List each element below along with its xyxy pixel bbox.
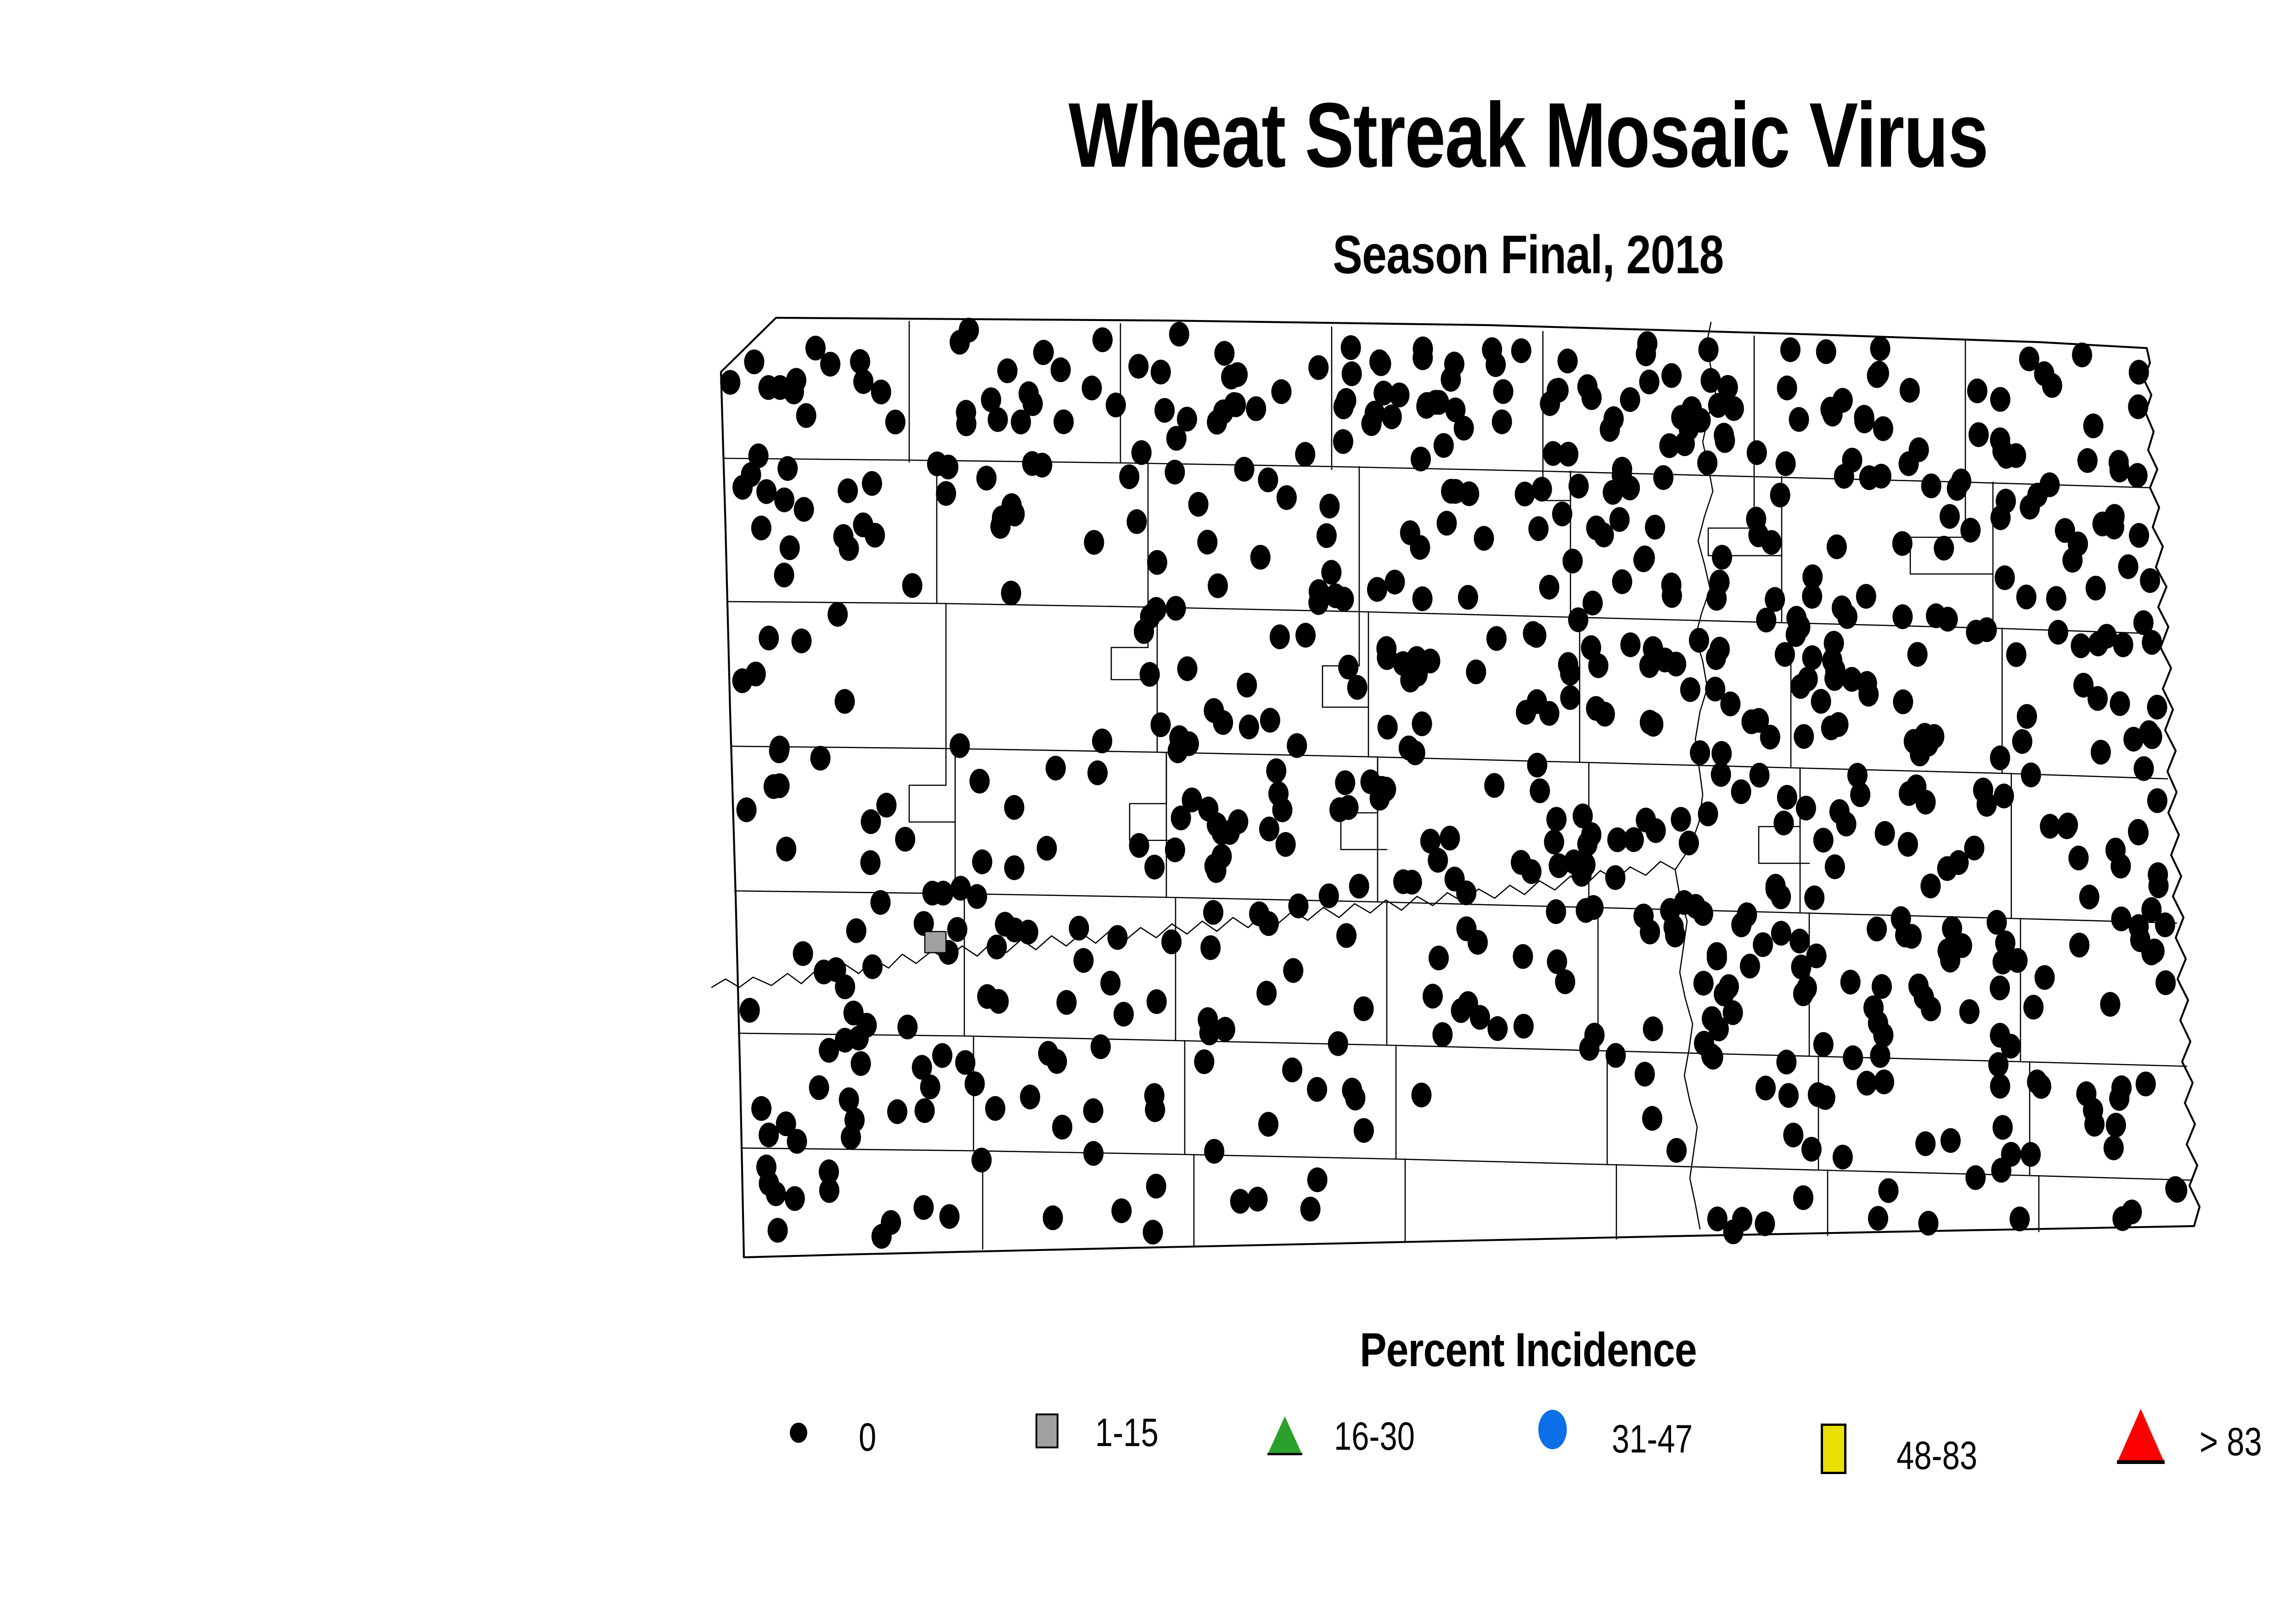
sample-point: [1177, 407, 1197, 432]
sample-point: [1790, 674, 1811, 699]
sample-point: [1990, 387, 2010, 412]
sample-point: [1870, 336, 1891, 361]
sample-point: [2021, 763, 2041, 788]
sample-point: [720, 370, 740, 395]
sample-point: [1272, 379, 1292, 404]
sample-point: [1037, 836, 1057, 861]
sample-point: [1720, 692, 1740, 716]
sample-point: [1700, 368, 1721, 393]
sample-point: [1456, 880, 1476, 905]
sample-point: [1780, 338, 1801, 362]
sample-point: [766, 1182, 786, 1206]
sample-point: [1640, 710, 1660, 735]
sample-point: [1111, 1199, 1131, 1223]
sample-point: [751, 516, 771, 540]
sample-point: [2100, 992, 2120, 1017]
sample-point: [1941, 1128, 1961, 1153]
legend: 0 1-15 16-30 31-47 48-83 > 83: [0, 1410, 2296, 1511]
sample-point: [2027, 483, 2048, 507]
sample-point: [1266, 758, 1286, 783]
sample-point: [1666, 652, 1686, 676]
sample-point: [1373, 381, 1394, 405]
sample-point: [1689, 628, 1709, 653]
sample-point: [1639, 370, 1660, 394]
sample-point: [1147, 550, 1167, 575]
sample-point: [2091, 740, 2111, 765]
sample-point: [1747, 440, 1767, 465]
sample-point: [1198, 797, 1218, 822]
sample-point: [1511, 338, 1531, 363]
sample-point: [1579, 1036, 1599, 1061]
legend-label-0: 0: [859, 1416, 876, 1458]
sample-point: [1484, 773, 1504, 798]
sample-point: [1990, 1023, 2010, 1047]
sample-point: [1440, 826, 1460, 850]
sample-point: [2001, 1142, 2021, 1167]
sample-point: [1207, 410, 1227, 434]
sample-point: [1990, 975, 2010, 1000]
sample-point: [956, 400, 976, 425]
sample-point: [2147, 788, 2167, 813]
sample-point: [1410, 535, 1430, 560]
sample-point: [1336, 923, 1356, 948]
sample-point: [1342, 361, 1362, 386]
sample-point: [981, 388, 1001, 412]
sample-point: [1349, 874, 1369, 899]
sample-point: [2141, 940, 2161, 965]
sample-point: [1569, 474, 1589, 499]
sample-point: [1354, 1118, 1374, 1143]
sample-point: [1546, 899, 1566, 924]
sample-point: [1675, 431, 1695, 456]
sample-point: [1918, 1211, 1938, 1236]
sample-point: [1208, 574, 1228, 598]
sample-point: [1699, 338, 1719, 362]
sample-point: [1947, 476, 1967, 501]
sample-point: [2071, 633, 2091, 658]
sample-point: [1147, 989, 1167, 1014]
sample-point: [737, 797, 757, 822]
sample-point: [1057, 990, 1077, 1015]
sample-point: [1004, 795, 1024, 820]
sample-point: [1986, 910, 2007, 934]
sample-point: [865, 523, 885, 548]
sample-point: [895, 827, 915, 852]
sample-point: [1714, 423, 1734, 448]
sample-point: [1367, 577, 1387, 602]
sample-point: [1376, 777, 1396, 802]
sample-point: [1053, 410, 1074, 434]
sample-point: [1718, 375, 1738, 400]
sample-point: [2122, 1199, 2142, 1224]
sample-point: [1552, 501, 1572, 526]
sample-point: [1128, 354, 1148, 379]
sample-point: [1200, 935, 1221, 960]
sample-point: [2129, 523, 2149, 548]
sample-point: [1258, 1112, 1278, 1137]
sample-point: [1260, 708, 1280, 732]
sample-point: [1083, 1098, 1103, 1123]
sample-point: [1635, 546, 1655, 570]
sample-point: [1309, 579, 1329, 604]
sample-point: [1959, 999, 1980, 1024]
sample-point: [1333, 429, 1353, 454]
sample-point: [1938, 607, 1958, 631]
sample-point: [1643, 1016, 1663, 1041]
sample-point: [1850, 782, 1870, 807]
sample-point: [1813, 1032, 1834, 1057]
sample-point: [1940, 504, 1960, 529]
sample-point: [1246, 396, 1266, 421]
sample-point: [2140, 568, 2160, 593]
sample-point: [732, 475, 753, 500]
sample-point: [1773, 811, 1794, 835]
sample-point: [1783, 1123, 1803, 1148]
sample-point: [2079, 884, 2099, 909]
sample-point: [1092, 729, 1112, 754]
sample-point: [1283, 958, 1303, 983]
sample-point: [1336, 388, 1356, 413]
sample-point: [1771, 884, 1791, 909]
sample-point: [1577, 374, 1598, 399]
sample-point: [1228, 809, 1248, 834]
sample-point: [1492, 410, 1512, 434]
sample-point: [1737, 902, 1757, 927]
sample-point: [1724, 396, 1744, 421]
sample-point: [1239, 715, 1259, 739]
sample-point: [1833, 1145, 1853, 1170]
sample-point: [1146, 1174, 1166, 1199]
sample-point: [748, 444, 769, 468]
sample-point: [972, 1148, 992, 1172]
sample-point: [1082, 376, 1102, 400]
sample-point: [969, 769, 990, 794]
sample-point: [1906, 775, 1926, 799]
sample-point: [841, 1125, 861, 1150]
sample-point: [1990, 1074, 2010, 1098]
sample-point: [2088, 631, 2108, 656]
sample-point: [1694, 971, 1714, 996]
sample-point: [1693, 901, 1713, 926]
sample-point: [1106, 393, 1126, 417]
sample-point: [785, 1186, 805, 1211]
sample-point: [1194, 1049, 1214, 1074]
sample-point: [759, 375, 779, 400]
sample-point: [744, 349, 764, 374]
sample-point: [2046, 586, 2066, 611]
sample-point: [1423, 984, 1443, 1008]
sample-point: [835, 1028, 855, 1053]
sample-point: [1824, 631, 1844, 656]
sample-point: [972, 850, 992, 874]
page-subtitle: Season Final, 2018: [275, 226, 2296, 284]
sample-point: [732, 668, 753, 693]
sample-point: [1790, 929, 1810, 953]
sample-point: [1908, 642, 1928, 667]
sample-point: [1319, 494, 1339, 518]
sample-point: [1134, 619, 1154, 644]
sample-point: [1046, 756, 1066, 781]
sample-point: [1270, 625, 1290, 649]
sample-point: [1362, 411, 1382, 436]
sample-point: [1165, 838, 1185, 862]
sample-point: [2110, 854, 2131, 878]
sample-point: [1493, 379, 1514, 404]
sample-point: [1321, 560, 1341, 585]
sample-point: [1815, 1085, 1835, 1110]
sample-point: [1047, 1049, 1067, 1074]
sample-point: [1458, 991, 1478, 1016]
sample-point: [885, 410, 906, 434]
sample-point: [987, 934, 1007, 959]
sample-point: [1129, 833, 1149, 858]
sample-point: [1777, 785, 1797, 810]
sample-point: [1378, 715, 1398, 740]
sample-point: [2118, 554, 2138, 579]
sample-point: [2136, 1072, 2156, 1097]
sample-point: [1091, 1034, 1111, 1059]
sample-point: [1586, 516, 1606, 540]
sample-point: [774, 563, 794, 587]
sample-point: [1165, 460, 1185, 484]
sample-point: [1051, 357, 1071, 382]
sample-point: [1833, 388, 1853, 413]
sample-point: [1287, 733, 1307, 758]
sample-point: [871, 380, 891, 405]
sample-point: [1429, 946, 1449, 970]
sample-point: [1605, 865, 1626, 890]
sample-point: [1776, 1050, 1796, 1075]
sample-point: [2113, 632, 2133, 657]
sample-point: [2111, 1075, 2132, 1100]
sample-point: [776, 1111, 796, 1136]
sample-point: [947, 917, 968, 942]
sample-point: [1230, 1189, 1250, 1214]
sample-point: [1995, 565, 2015, 590]
sample-point: [2069, 845, 2089, 870]
sample-point: [1827, 535, 1847, 559]
sample-point: [2093, 512, 2113, 536]
sample-point: [1740, 954, 1760, 979]
sample-point: [1307, 1167, 1328, 1192]
sample-point: [2127, 463, 2148, 488]
sample-point: [1992, 1115, 2013, 1140]
sample-point: [1868, 1206, 1888, 1231]
sample-point: [1924, 724, 1944, 749]
sample-point: [1198, 1007, 1218, 1032]
sample-point: [1856, 584, 1876, 609]
sample-point: [1515, 482, 1535, 507]
sample-point: [1612, 569, 1632, 594]
sample-point: [1402, 870, 1422, 895]
sample-point: [1558, 442, 1578, 467]
sample-point: [1969, 422, 1989, 447]
sample-point: [2009, 1206, 2030, 1231]
sample-point: [1563, 549, 1583, 574]
sample-point: [1606, 1043, 1626, 1068]
sample-point: [1802, 645, 1823, 670]
sample-point: [1934, 536, 1954, 561]
sample-point: [1797, 976, 1817, 1001]
sample-point: [1417, 392, 1437, 417]
sample-point: [1437, 511, 1457, 535]
sample-point: [1544, 830, 1564, 855]
sample-point: [1635, 1062, 1655, 1086]
sample-point: [1335, 771, 1355, 795]
sample-point: [2068, 532, 2088, 557]
sample-point: [1996, 444, 2016, 469]
sample-point: [1921, 996, 1941, 1021]
sample-point: [2017, 704, 2037, 729]
sample-point: [1131, 440, 1152, 465]
sample-point: [819, 1178, 839, 1203]
sample-point: [1154, 398, 1175, 423]
sample-point: [1177, 656, 1198, 681]
sample-point: [861, 809, 881, 834]
sample-point: [1458, 585, 1478, 610]
sample-point: [759, 625, 779, 650]
sample-point: [1874, 1070, 1894, 1094]
sample-point: [1988, 1052, 2009, 1077]
sample-point: [1338, 655, 1358, 680]
sample-point: [2072, 343, 2092, 367]
sample-point: [1166, 596, 1186, 621]
sample-point: [1005, 918, 1025, 942]
sample-point: [838, 478, 858, 503]
sample-point: [1829, 712, 1849, 737]
green-triangle-icon: [1267, 1416, 1302, 1455]
sample-point: [1074, 948, 1094, 973]
sample-point: [1168, 738, 1188, 763]
sample-point: [1899, 451, 1919, 476]
sample-point: [1842, 667, 1862, 692]
sample-point: [1796, 796, 1816, 821]
legend-label-48-83: 48-83: [1896, 1435, 1977, 1477]
sample-point: [1832, 596, 1852, 620]
sample-point: [1203, 900, 1223, 925]
blue-circle-icon: [1538, 1410, 1567, 1449]
sample-point: [1771, 921, 1791, 946]
sample-point: [1143, 1220, 1163, 1244]
sample-point: [959, 318, 979, 343]
sample-point: [1249, 901, 1269, 926]
sample-point: [1731, 779, 1751, 804]
sample-point: [1319, 884, 1339, 908]
sample-point: [856, 1013, 877, 1038]
sample-point: [1661, 573, 1682, 597]
sample-point: [756, 479, 777, 504]
sample-point: [1526, 623, 1547, 648]
sample-point: [1870, 1043, 1890, 1068]
sample-point: [1636, 808, 1656, 833]
sample-point: [2027, 1070, 2047, 1094]
sample-point: [1250, 545, 1271, 570]
sample-point: [1937, 856, 1958, 881]
sample-point: [2142, 724, 2162, 749]
sample-point: [1342, 1078, 1362, 1103]
sample-point: [1868, 1011, 1888, 1036]
sample-point: [1878, 1178, 1898, 1203]
sample-point: [751, 1096, 771, 1121]
sample-point: [1778, 1083, 1799, 1108]
sample-point: [1256, 981, 1277, 1006]
sample-point: [851, 1051, 871, 1076]
sample-point: [1446, 398, 1466, 422]
sample-point: [1307, 1077, 1327, 1102]
sample-point: [1434, 433, 1454, 458]
sample-point: [1840, 970, 1861, 995]
sample-point: [1258, 467, 1278, 492]
sample-point: [1645, 515, 1665, 540]
sample-point: [1620, 387, 1640, 412]
sample-point: [1802, 584, 1822, 609]
sample-point: [1793, 1185, 1813, 1210]
sample-point: [1811, 689, 1831, 714]
sample-point: [1892, 604, 1913, 629]
sample-point: [950, 733, 970, 758]
sample-point: [1712, 545, 1732, 570]
sample-point: [1282, 1058, 1302, 1082]
sample-point: [862, 954, 883, 979]
sample-point: [1083, 1141, 1103, 1166]
sample-point: [1756, 1075, 1776, 1100]
sample-point: [1127, 509, 1147, 534]
sample-point: [1188, 492, 1209, 517]
sample-point: [1694, 1031, 1714, 1056]
sample-point: [1215, 1017, 1235, 1041]
sample-point-1-15: [925, 932, 946, 953]
sample-point: [1558, 349, 1578, 373]
sample-point: [809, 1075, 829, 1100]
sample-point: [2048, 620, 2068, 645]
sample-point: [1609, 507, 1630, 532]
sample-point: [839, 1087, 859, 1112]
sample-point: [1636, 342, 1656, 366]
sample-point: [1653, 465, 1673, 490]
sample-point: [1920, 873, 1941, 898]
sample-point: [1750, 763, 1770, 788]
sample-point: [2167, 1178, 2187, 1203]
sample-point: [1854, 405, 1874, 430]
sample-point: [794, 497, 814, 522]
sample-point: [1547, 949, 1567, 974]
sample-point: [1760, 725, 1780, 749]
sample-point: [1487, 1016, 1508, 1041]
sample-point: [1776, 451, 1796, 476]
sample-point: [1915, 1132, 1936, 1156]
sample-point: [756, 1154, 777, 1179]
sample-point: [2019, 347, 2039, 372]
sample-point: [1707, 946, 1727, 970]
sample-point: [814, 960, 834, 985]
sample-point: [1328, 1031, 1348, 1056]
sample-point: [897, 1014, 917, 1039]
sample-point: [1514, 1014, 1534, 1039]
sample-point: [827, 602, 848, 627]
sample-point: [2020, 1142, 2041, 1167]
sample-point: [1558, 652, 1578, 677]
sample-point: [1511, 850, 1531, 875]
sample-point: [1902, 924, 1922, 949]
sample-point: [1539, 575, 1559, 600]
sample-point: [1560, 685, 1581, 710]
sample-point: [1777, 376, 1797, 400]
sample-point: [1677, 405, 1697, 429]
sample-point: [2083, 413, 2104, 438]
sample-point: [2111, 906, 2132, 931]
sample-point: [1114, 1002, 1134, 1027]
sample-point: [1921, 473, 1941, 498]
